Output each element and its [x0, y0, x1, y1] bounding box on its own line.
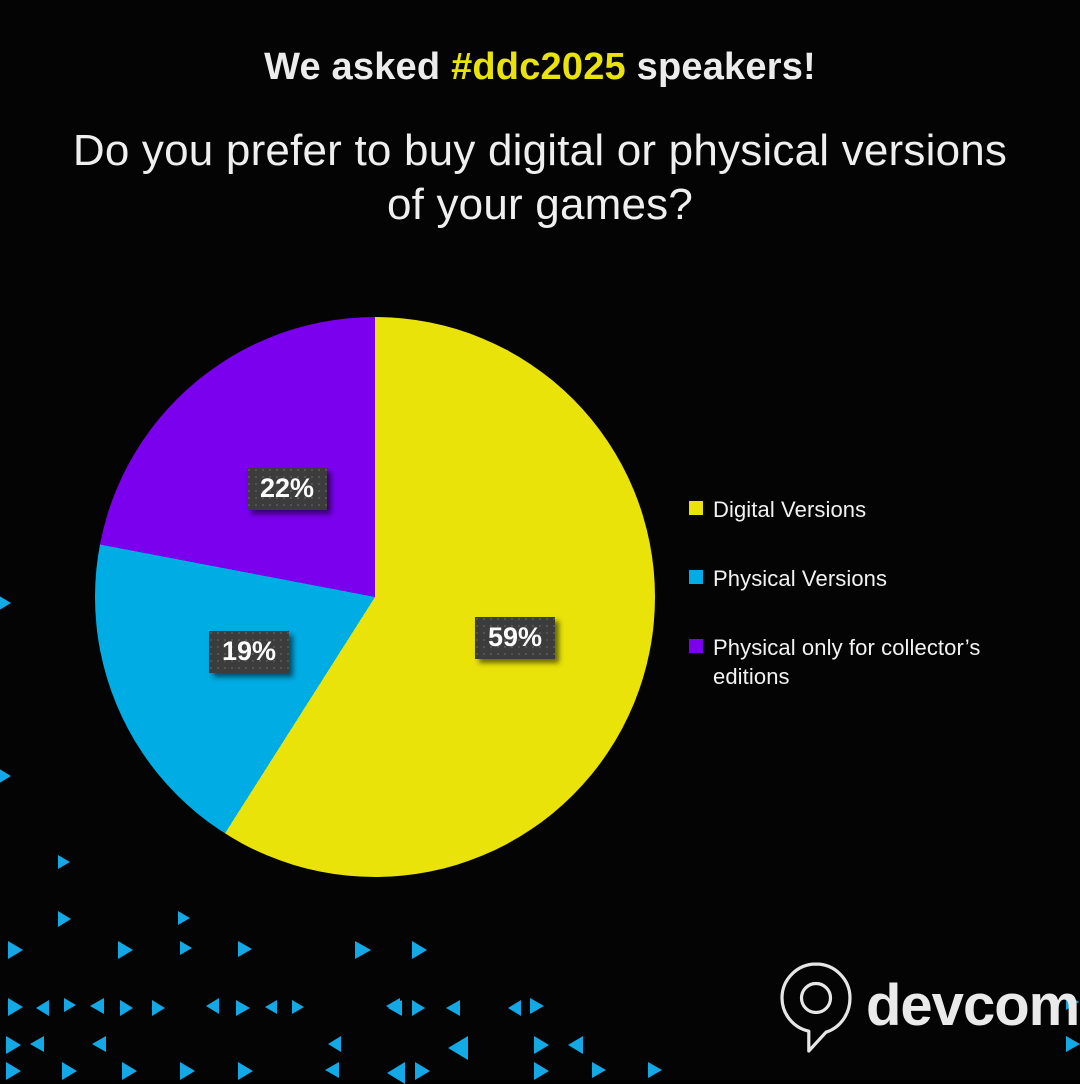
devcom-pin-icon: [780, 962, 852, 1054]
decor-triangle-icon: [412, 1000, 425, 1016]
decor-triangle-icon: [30, 1036, 44, 1052]
decor-triangle-icon: [236, 1000, 250, 1016]
decor-triangle-icon: [118, 941, 133, 959]
legend-swatch-icon-collectors: [689, 639, 703, 653]
decor-triangle-icon: [534, 1036, 549, 1054]
decor-triangle-icon: [238, 1062, 253, 1080]
decor-triangle-icon: [0, 594, 11, 612]
decor-triangle-icon: [328, 1036, 341, 1052]
legend-swatch-icon-digital: [689, 501, 703, 515]
decor-triangle-icon: [568, 1036, 583, 1054]
decor-triangle-icon: [58, 855, 70, 869]
decor-triangle-icon: [387, 1062, 405, 1084]
decor-triangle-icon: [592, 1062, 606, 1078]
decor-triangle-icon: [8, 998, 23, 1016]
legend-item-digital[interactable]: Digital Versions: [689, 495, 1019, 524]
decor-triangle-icon: [92, 1036, 106, 1052]
decor-triangle-icon: [448, 1036, 468, 1060]
pie-value-label-physical: 19%: [209, 631, 289, 673]
decor-triangle-icon: [648, 1062, 662, 1078]
decor-triangle-icon: [325, 1062, 339, 1078]
legend-label-physical: Physical Versions: [713, 564, 887, 593]
decor-triangle-icon: [0, 767, 11, 785]
decor-triangle-icon: [292, 1000, 304, 1014]
poster-canvas: We asked #ddc2025 speakers! Do you prefe…: [0, 0, 1080, 1080]
decor-triangle-icon: [178, 911, 190, 925]
decor-triangle-icon: [90, 998, 104, 1014]
decor-triangle-icon: [508, 1000, 521, 1016]
decor-triangle-icon: [265, 1000, 277, 1014]
decor-triangle-icon: [386, 998, 400, 1014]
decor-triangle-icon: [530, 998, 544, 1014]
decor-triangle-icon: [122, 1062, 137, 1080]
headline-prefix: We asked: [264, 46, 451, 88]
devcom-logo: devcom: [780, 962, 1079, 1054]
decor-triangle-icon: [6, 1036, 21, 1054]
decor-triangle-icon: [62, 1062, 77, 1080]
decor-triangle-icon: [8, 941, 23, 959]
decor-triangle-icon: [180, 941, 192, 955]
decor-triangle-icon: [355, 941, 371, 959]
decor-triangle-icon: [6, 1062, 21, 1080]
pie-value-label-collectors: 22%: [247, 468, 327, 510]
decor-triangle-icon: [206, 998, 219, 1014]
legend-swatch-icon-physical: [689, 570, 703, 584]
chart-legend: Digital Versions Physical Versions Physi…: [689, 495, 1019, 691]
decor-triangle-icon: [412, 941, 427, 959]
decor-triangle-icon: [534, 1062, 549, 1080]
survey-question: Do you prefer to buy digital or physical…: [50, 124, 1030, 231]
pie-chart: [95, 317, 655, 877]
decor-triangle-icon: [446, 1000, 460, 1016]
decor-triangle-icon: [120, 1000, 133, 1016]
legend-item-physical[interactable]: Physical Versions: [689, 564, 1019, 593]
devcom-wordmark: devcom: [866, 977, 1079, 1035]
pie-surface: [95, 317, 655, 877]
page-title: We asked #ddc2025 speakers!: [0, 46, 1080, 90]
decor-triangle-icon: [58, 911, 71, 927]
decor-triangle-icon: [238, 941, 252, 957]
decor-triangle-icon: [415, 1062, 430, 1080]
decor-triangle-icon: [388, 1000, 402, 1016]
pie-value-label-digital: 59%: [475, 617, 555, 659]
decor-triangle-icon: [36, 1000, 49, 1016]
legend-item-collectors[interactable]: Physical only for collector’s editions: [689, 633, 1019, 691]
decor-triangle-icon: [180, 1062, 195, 1080]
legend-label-collectors: Physical only for collector’s editions: [713, 633, 1019, 691]
decor-triangle-icon: [152, 1000, 165, 1016]
legend-label-digital: Digital Versions: [713, 495, 866, 524]
headline-suffix: speakers!: [626, 46, 816, 88]
headline-hashtag: #ddc2025: [451, 46, 626, 88]
decor-triangle-icon: [64, 998, 76, 1012]
